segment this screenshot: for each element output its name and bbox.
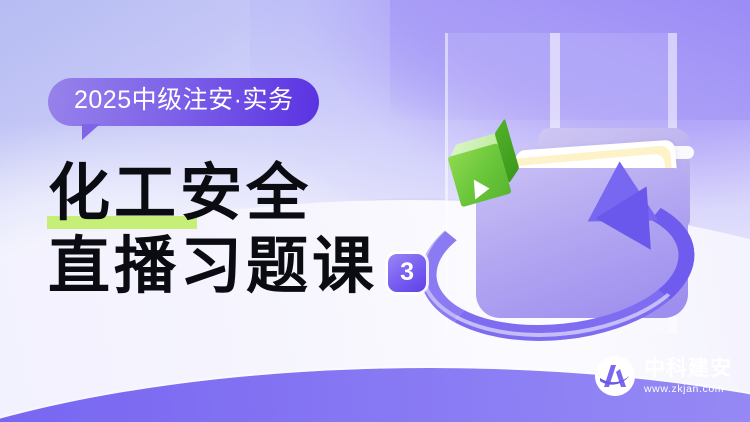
cube-front-face xyxy=(447,143,511,207)
speech-bubble-tail-icon xyxy=(82,124,100,140)
play-triangle-icon xyxy=(474,179,490,200)
brand-name: 中科建安 xyxy=(644,358,732,379)
episode-number-badge: 3 xyxy=(388,254,426,292)
brand-logo: 中科建安 www.zkjan.com xyxy=(595,356,732,396)
course-category-label: 2025中级注安·实务 xyxy=(48,78,319,126)
title-line-1: 化工安全 xyxy=(48,158,426,227)
person-circle-logo-icon xyxy=(595,356,635,396)
vertical-panels-icon xyxy=(448,33,550,333)
circular-arrow-icon xyxy=(413,176,702,354)
panel-divider-right xyxy=(668,33,677,333)
green-play-cube-icon xyxy=(445,131,522,208)
course-category-badge: 2025中级注安·实务 xyxy=(48,78,319,126)
background-top-right-gradient xyxy=(390,0,750,120)
title-line-2: 直播习题课 xyxy=(48,231,378,300)
folder-tab xyxy=(646,146,694,159)
document-sheet-cream xyxy=(508,145,677,249)
cube-side-face xyxy=(495,118,520,183)
brand-url: www.zkjan.com xyxy=(644,384,732,395)
document-sheet-white xyxy=(504,153,671,255)
vertical-panel-fill xyxy=(560,33,668,333)
folder-back xyxy=(538,128,690,228)
circular-arrow-highlight xyxy=(413,172,702,350)
course-banner: 2025中级注安·实务 化工安全 直播习题课 3 中科建安 www.zkjan.… xyxy=(0,0,750,422)
illustration xyxy=(400,0,750,360)
panel-divider-middle xyxy=(550,33,560,333)
title-line-2-wrap: 直播习题课 3 xyxy=(48,231,426,300)
brand-text: 中科建安 www.zkjan.com xyxy=(644,358,732,395)
cube-top-face xyxy=(449,130,506,161)
title-line-1-wrap: 化工安全 xyxy=(48,158,426,227)
document-sheet-white-top xyxy=(515,140,681,243)
arrow-head xyxy=(588,161,675,250)
page-title: 化工安全 直播习题课 3 xyxy=(48,158,426,301)
panel-divider-left xyxy=(445,33,448,333)
arrow-head-shadow xyxy=(596,186,677,265)
logo-glyph-icon xyxy=(595,356,635,396)
folder-documents-icon xyxy=(476,168,688,318)
